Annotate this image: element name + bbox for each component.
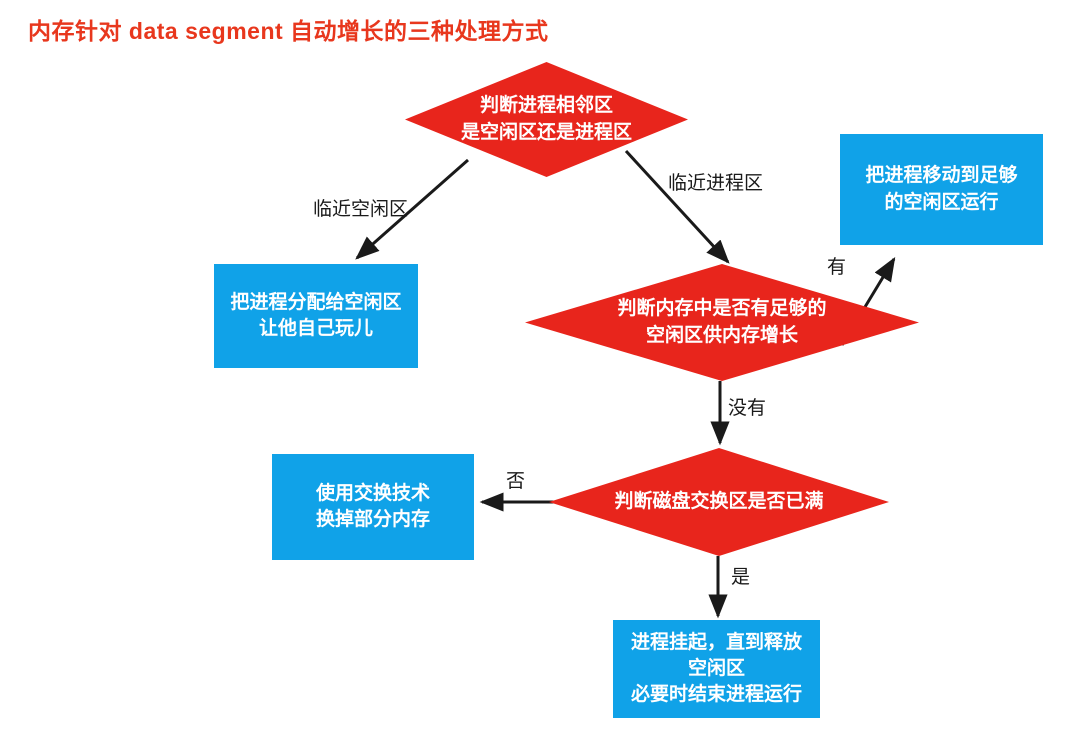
decision-enough-free-memory-label: 判断内存中是否有足够的 空闲区供内存增长	[617, 296, 826, 348]
process-assign-free-area-label: 把进程分配给空闲区 让他自己玩儿	[230, 290, 401, 342]
decision-adjacent-area-label: 判断进程相邻区 是空闲区还是进程区	[461, 93, 632, 145]
process-suspend[interactable]: 进程挂起，直到释放 空闲区 必要时结束进程运行	[613, 620, 820, 718]
process-move-to-free-area-label: 把进程移动到足够 的空闲区运行	[865, 163, 1017, 215]
decision-swap-area-full-label: 判断磁盘交换区是否已满	[614, 489, 823, 515]
flowchart-canvas: 内存针对 data segment 自动增长的三种处理方式 判断进程相邻区 是空…	[0, 0, 1080, 742]
edge-label-no-free: 没有	[728, 393, 766, 420]
process-move-to-free-area[interactable]: 把进程移动到足够 的空闲区运行	[840, 134, 1043, 245]
edge-label-has-free: 有	[827, 252, 846, 279]
edge-label-near-process-area: 临近进程区	[668, 168, 763, 195]
decision-enough-free-memory[interactable]: 判断内存中是否有足够的 空闲区供内存增长	[525, 264, 919, 381]
process-assign-free-area[interactable]: 把进程分配给空闲区 让他自己玩儿	[214, 264, 418, 368]
decision-adjacent-area[interactable]: 判断进程相邻区 是空闲区还是进程区	[405, 62, 688, 177]
edge-label-swap-not-full: 否	[506, 466, 525, 493]
decision-swap-area-full[interactable]: 判断磁盘交换区是否已满	[549, 448, 889, 556]
edge-label-swap-full: 是	[731, 562, 750, 589]
process-swap-out-memory-label: 使用交换技术 换掉部分内存	[316, 481, 430, 533]
process-suspend-label: 进程挂起，直到释放 空闲区 必要时结束进程运行	[631, 630, 802, 709]
edge-label-near-free-area: 临近空闲区	[313, 194, 408, 221]
process-swap-out-memory[interactable]: 使用交换技术 换掉部分内存	[272, 454, 474, 560]
